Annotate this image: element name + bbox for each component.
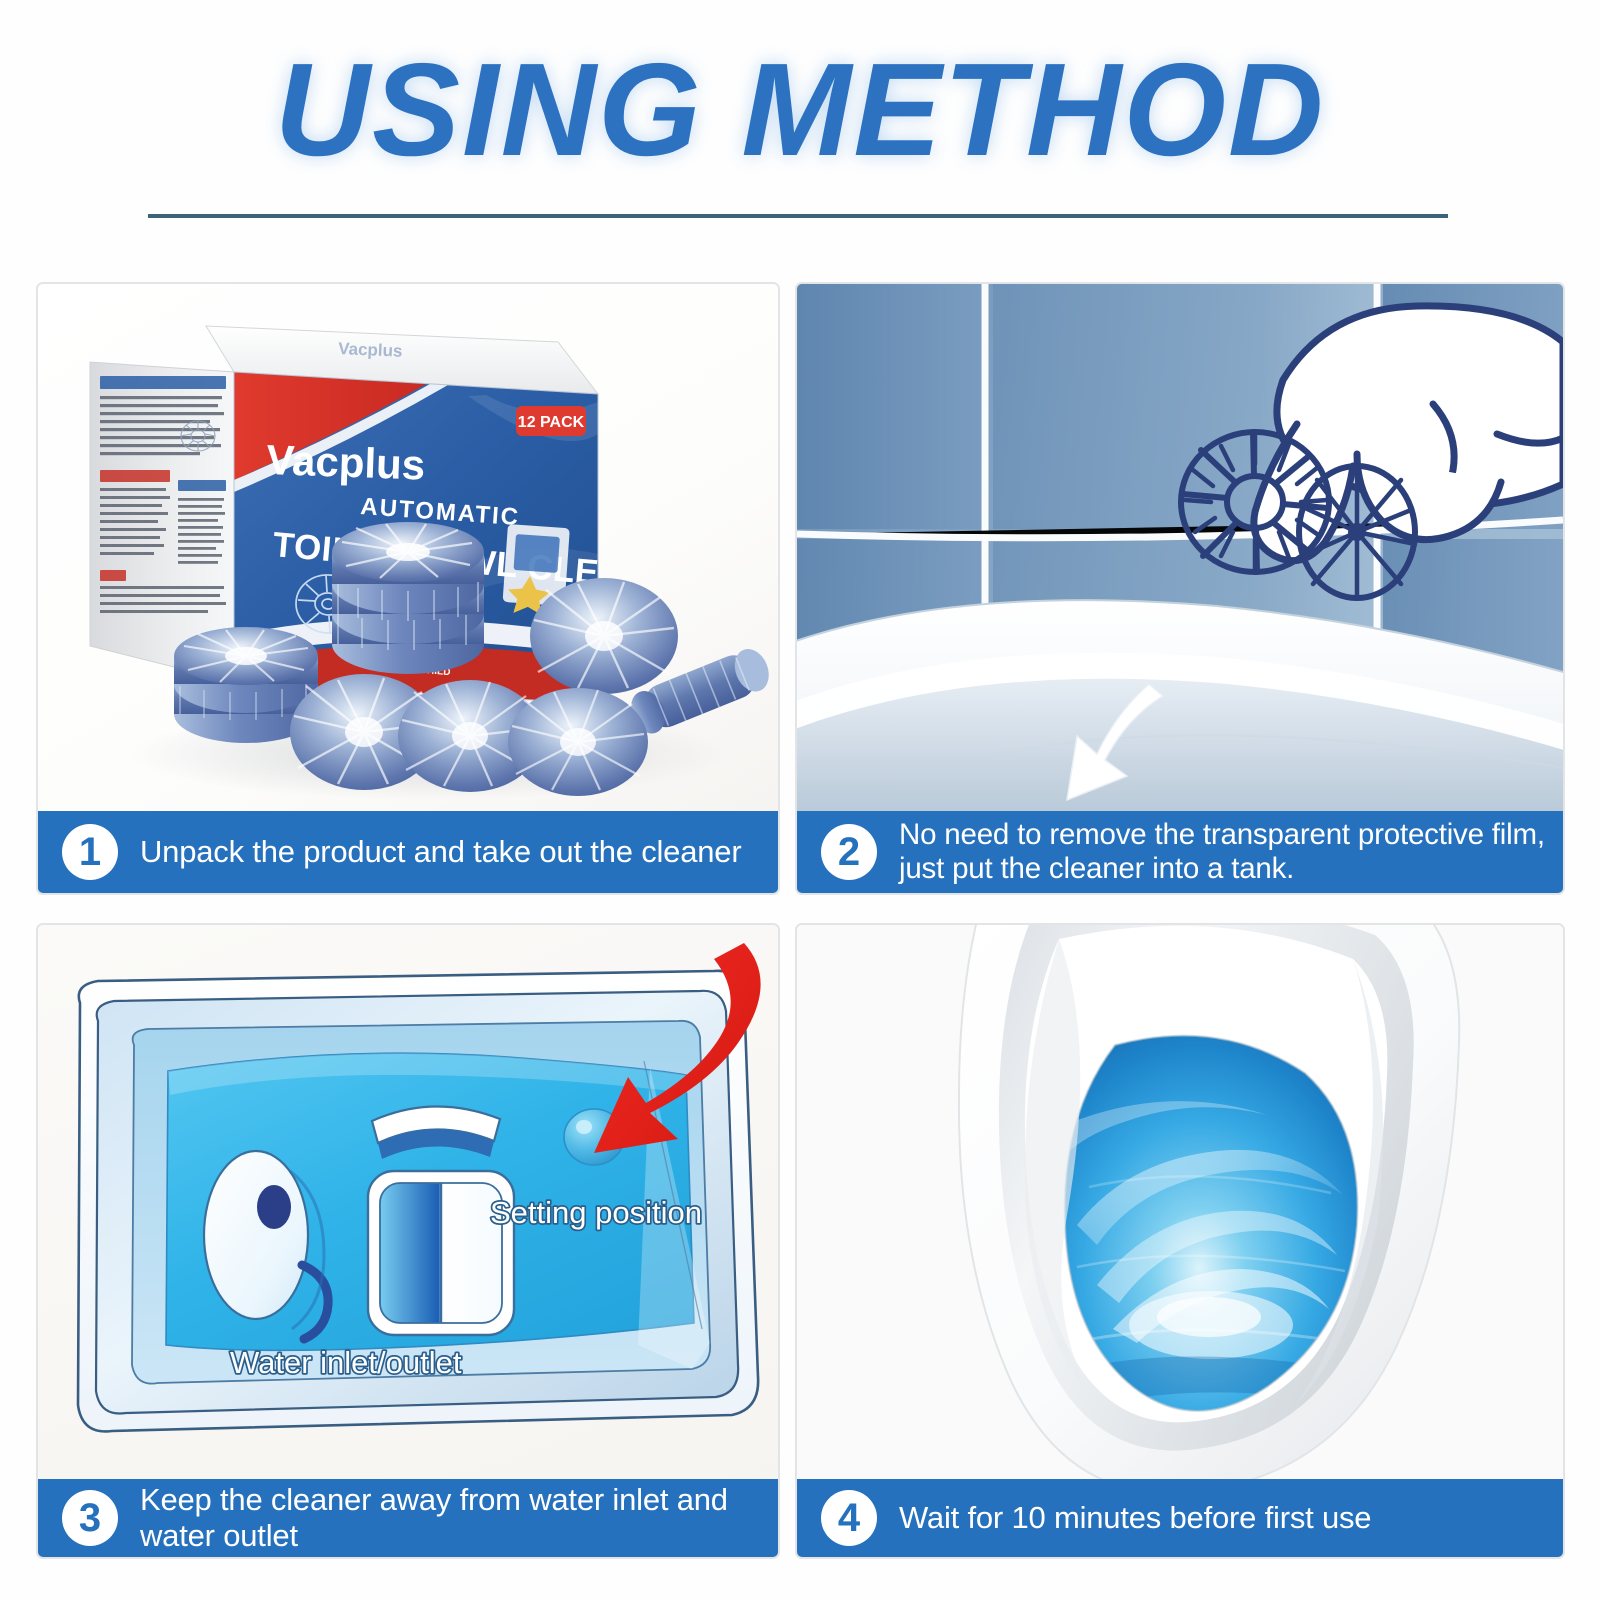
step-3-caption: 3 Keep the cleaner away from water inlet… bbox=[38, 1479, 778, 1557]
water-inlet-outlet-label: Water inlet/outlet bbox=[230, 1345, 462, 1380]
step-1-number-badge: 1 bbox=[62, 824, 118, 880]
infographic-page: USING METHOD bbox=[0, 0, 1600, 1600]
step-3-image: Setting position Water inlet/outlet bbox=[38, 925, 778, 1557]
step-4-panel: 4 Wait for 10 minutes before first use bbox=[795, 923, 1565, 1559]
step-2-caption-text: No need to remove the transparent protec… bbox=[899, 818, 1563, 886]
steps-grid: Vacplus bbox=[0, 275, 1600, 1600]
box-top-brand: Vacplus bbox=[338, 339, 403, 361]
header: USING METHOD bbox=[0, 0, 1600, 250]
step-1-panel: Vacplus bbox=[36, 282, 780, 895]
page-title: USING METHOD bbox=[0, 44, 1600, 176]
step-1-image: Vacplus bbox=[38, 284, 778, 893]
setting-position-label: Setting position bbox=[490, 1195, 702, 1230]
step-3-number-badge: 3 bbox=[62, 1490, 118, 1546]
pack-badge-label: 12 PACK bbox=[518, 414, 585, 431]
box-brand: Vacplus bbox=[266, 436, 426, 489]
step-2-panel: 2 No need to remove the transparent prot… bbox=[795, 282, 1565, 895]
pack-badge: 12 PACK bbox=[516, 406, 586, 436]
step-2-image bbox=[797, 284, 1563, 893]
step-4-caption: 4 Wait for 10 minutes before first use bbox=[797, 1479, 1563, 1557]
step-4-caption-text: Wait for 10 minutes before first use bbox=[899, 1500, 1385, 1536]
step-4-number-badge: 4 bbox=[821, 1490, 877, 1546]
step-1-caption-text: Unpack the product and take out the clea… bbox=[140, 834, 755, 870]
step-3-panel: Setting position Water inlet/outlet 3 Ke… bbox=[36, 923, 780, 1559]
step-4-image bbox=[797, 925, 1563, 1557]
title-divider bbox=[148, 214, 1448, 218]
step-3-caption-text: Keep the cleaner away from water inlet a… bbox=[140, 1482, 778, 1554]
step-2-caption: 2 No need to remove the transparent prot… bbox=[797, 811, 1563, 893]
step-2-number-badge: 2 bbox=[821, 824, 877, 880]
step-1-caption: 1 Unpack the product and take out the cl… bbox=[38, 811, 778, 893]
